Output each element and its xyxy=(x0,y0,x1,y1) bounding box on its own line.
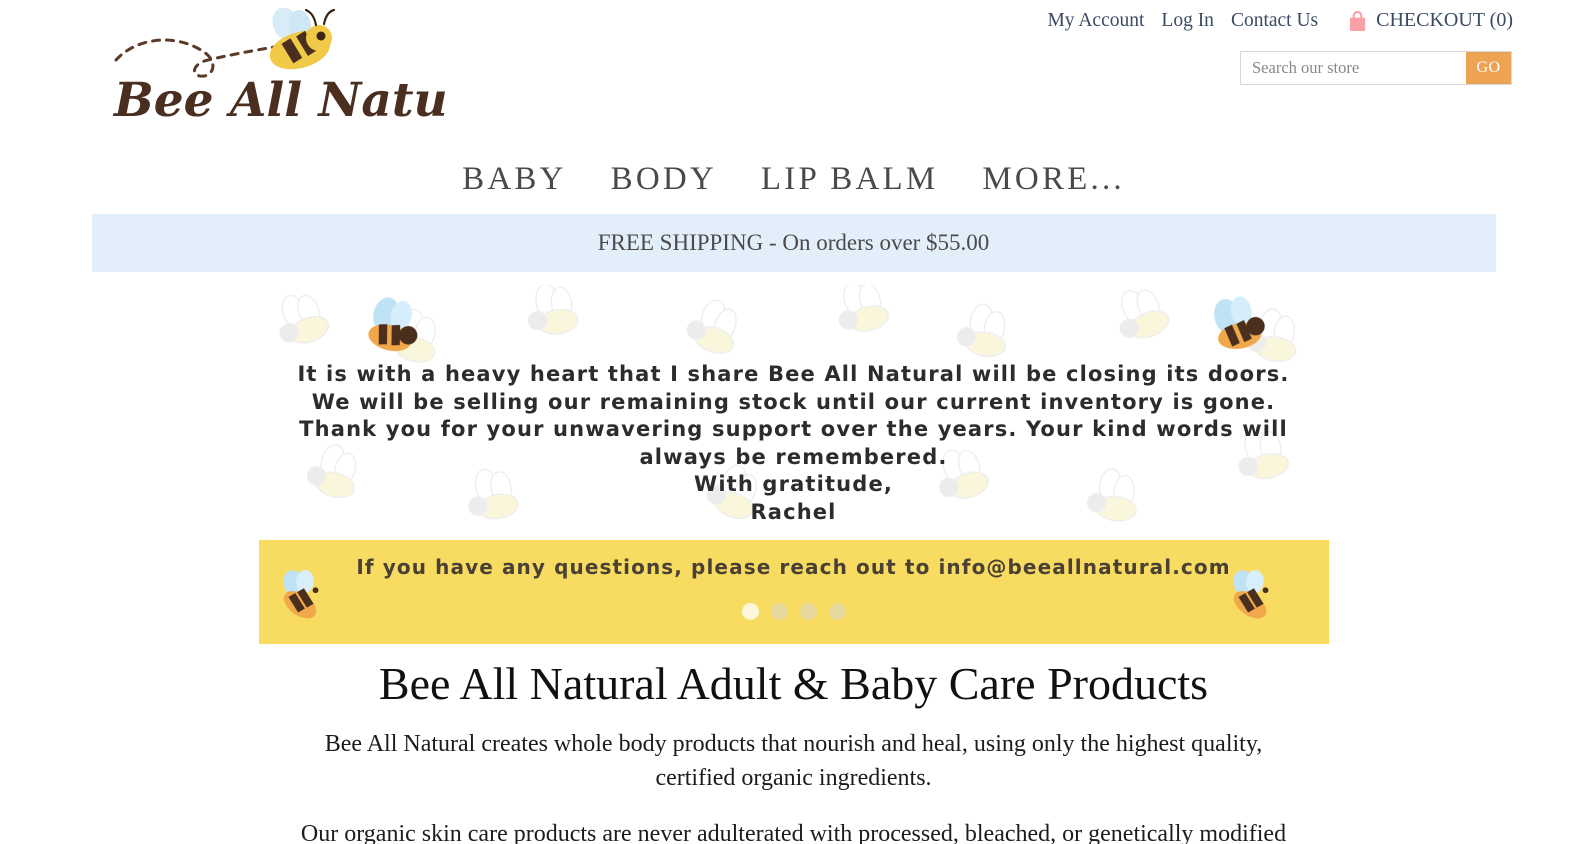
free-shipping-banner: FREE SHIPPING - On orders over $55.00 xyxy=(92,214,1496,272)
main-navigation: BABY BODY LIP BALM MORE... xyxy=(0,150,1587,208)
slider-signoff-line1: With gratitude, xyxy=(694,472,893,496)
main-content: Bee All Natural Adult & Baby Care Produc… xyxy=(259,658,1329,844)
search-go-button[interactable]: GO xyxy=(1466,52,1511,84)
log-in-link[interactable]: Log In xyxy=(1161,10,1214,32)
search-input[interactable] xyxy=(1241,52,1466,84)
utility-nav: My Account Log In Contact Us CHECKOUT (0… xyxy=(1047,9,1513,32)
site-logo[interactable]: Bee All Natural xyxy=(108,8,448,130)
hero-slider[interactable]: It is with a heavy heart that I share Be… xyxy=(259,285,1329,644)
contact-us-link[interactable]: Contact Us xyxy=(1231,10,1318,32)
slider-pagination xyxy=(259,603,1329,620)
checkout-link[interactable]: CHECKOUT (0) xyxy=(1348,9,1513,32)
nav-item-more[interactable]: MORE... xyxy=(982,161,1125,198)
slider-contact-band: If you have any questions, please reach … xyxy=(259,540,1329,644)
slider-dot-1[interactable] xyxy=(742,603,759,620)
my-account-link[interactable]: My Account xyxy=(1047,10,1144,32)
slider-dot-2[interactable] xyxy=(771,603,788,620)
slider-signoff-line2: Rachel xyxy=(750,500,836,524)
logo-bee-icon: Bee All Natural xyxy=(108,8,448,130)
nav-item-baby[interactable]: BABY xyxy=(462,161,567,198)
search-form[interactable]: GO xyxy=(1240,51,1512,85)
nav-item-lip-balm[interactable]: LIP BALM xyxy=(761,161,938,198)
slider-dot-4[interactable] xyxy=(829,603,846,620)
svg-text:Bee All Natural: Bee All Natural xyxy=(112,73,448,128)
slider-message-body: It is with a heavy heart that I share Be… xyxy=(297,362,1289,469)
shopping-bag-icon xyxy=(1348,10,1367,32)
intro-paragraph-1: Bee All Natural creates whole body produ… xyxy=(289,727,1299,795)
nav-item-body[interactable]: BODY xyxy=(611,161,717,198)
slider-contact-text: If you have any questions, please reach … xyxy=(259,555,1329,579)
site-header: Bee All Natural My Account Log In Contac… xyxy=(0,0,1587,150)
page-title: Bee All Natural Adult & Baby Care Produc… xyxy=(259,658,1329,711)
checkout-label: CHECKOUT (0) xyxy=(1376,9,1513,32)
free-shipping-text: FREE SHIPPING - On orders over $55.00 xyxy=(598,230,990,256)
slider-dot-3[interactable] xyxy=(800,603,817,620)
intro-paragraph-2: Our organic skin care products are never… xyxy=(266,817,1321,844)
slider-message: It is with a heavy heart that I share Be… xyxy=(259,361,1329,526)
